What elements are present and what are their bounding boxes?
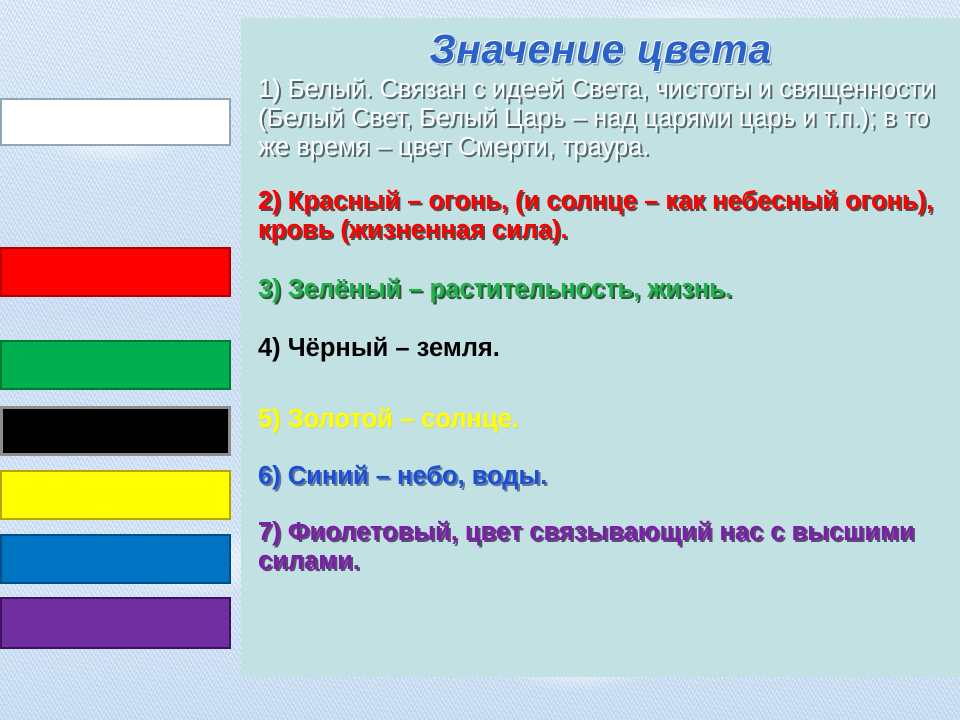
banner-fill-gold (0, 470, 231, 520)
list-item-red: 2) Красный – огонь, (и солнце – как небе… (258, 187, 954, 245)
list-item-white: 1) Белый. Связан с идеей Света, чистоты … (258, 75, 954, 161)
banner-fill-purple (0, 597, 231, 649)
banner-black[interactable] (0, 406, 236, 456)
page-title: Значение цвета (241, 18, 960, 71)
banner-fill-green (0, 340, 231, 390)
banner-gold[interactable] (0, 470, 236, 520)
list-item-purple: 7) Фиолетовый, цвет связывающий нас с вы… (258, 518, 954, 576)
banner-fill-white (0, 98, 231, 146)
list-item-gold: 5) Золотой – солнце. (258, 405, 954, 434)
banner-fill-black (0, 406, 231, 456)
banner-white[interactable] (0, 98, 236, 146)
banner-fill-red (0, 247, 231, 297)
list-item-black: 4) Чёрный – земля. (258, 334, 954, 363)
banner-fill-blue (0, 534, 231, 584)
color-banner-column (0, 0, 240, 720)
list-item-green: 3) Зелёный – растительность, жизнь. (258, 275, 954, 304)
banner-red[interactable] (0, 247, 236, 297)
slide-canvas: Значение цвета Значение цвета 1) Белый. … (0, 0, 960, 720)
banner-purple[interactable] (0, 597, 236, 649)
color-meaning-list: 1) Белый. Связан с идеей Света, чистоты … (241, 75, 960, 576)
content-panel: Значение цвета Значение цвета 1) Белый. … (241, 18, 960, 677)
banner-green[interactable] (0, 340, 236, 390)
banner-blue[interactable] (0, 534, 236, 584)
list-item-blue: 6) Синий – небо, воды. (258, 462, 954, 491)
